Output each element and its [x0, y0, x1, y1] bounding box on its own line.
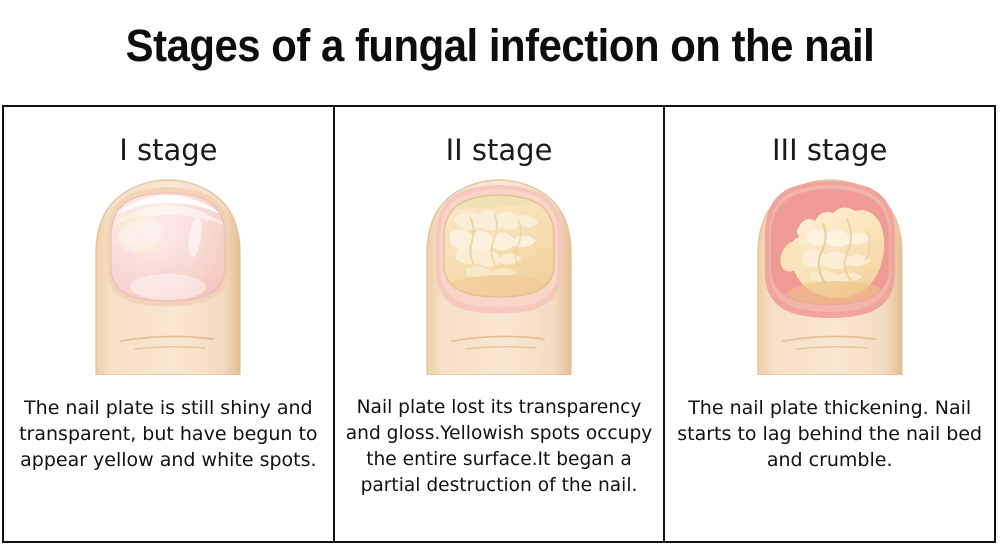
- nail-stage-3-illustration: [745, 175, 915, 375]
- nail-stage-1-illustration: [83, 175, 253, 375]
- stage-1-caption: The nail plate is still shiny and transp…: [12, 395, 325, 473]
- plate-sheen: [111, 193, 225, 303]
- stage-panel-3: III stage: [663, 107, 994, 541]
- nail-bed-and-plate: [765, 185, 895, 310]
- stage-panel-1: I stage: [4, 107, 333, 541]
- nail-plate-details: [109, 193, 229, 303]
- nail-stage-2-illustration: [414, 175, 584, 375]
- stage-1-heading: I stage: [119, 133, 217, 167]
- stage-3-caption: The nail plate thickening. Nail starts t…: [673, 395, 986, 473]
- stage-2-heading: II stage: [446, 133, 553, 167]
- fungal-infection-stages-infographic: Stages of a fungal infection on the nail…: [0, 0, 1000, 550]
- page-title: Stages of a fungal infection on the nail: [35, 18, 965, 74]
- stage-2-caption: Nail plate lost its transparency and glo…: [339, 395, 660, 499]
- stage-3-heading: III stage: [772, 133, 887, 167]
- stage-panel-2: II stage: [333, 107, 664, 541]
- stages-panel-group: I stage: [2, 105, 996, 543]
